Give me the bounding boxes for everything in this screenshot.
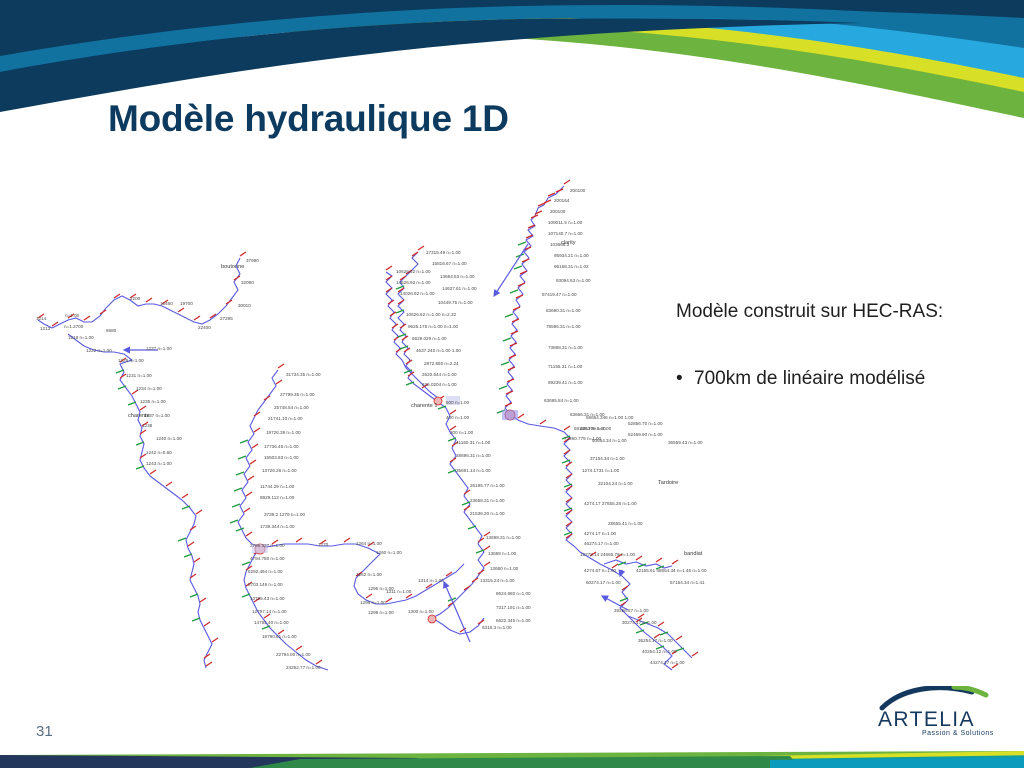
- map-cross-section-label: 52856.70 n=1.00: [628, 421, 663, 426]
- map-cross-section-label: 2872.850 n=2.24: [424, 361, 459, 366]
- map-cross-section-label: 36254.17 n=1.00: [638, 638, 673, 643]
- slide: Modèle hydraulique 1D: [0, 0, 1024, 768]
- map-cross-section-label: 63695.84 n=1.00: [544, 398, 579, 403]
- map-cross-section-label: 95934.21 n=1.00: [554, 253, 589, 258]
- map-cross-section-label: 109011.5 n=1.00: [548, 220, 583, 225]
- map-reach-label: Tardoire: [658, 480, 678, 486]
- map-cross-section-label: 1240 n=1.00: [156, 436, 182, 441]
- map-cross-section-label: 8624.680 n=1.00: [496, 591, 531, 596]
- map-cross-section-label: 400 n=1.00: [446, 415, 470, 420]
- map-cross-section-label: 4637.240 n=1.00 1.00: [416, 348, 461, 353]
- map-reach-labels: boutonnecharentecharente 1clarityTardoir…: [128, 240, 703, 557]
- map-cross-section-label: 1214: [36, 316, 47, 321]
- map-cross-section-label: 36559.43 n=1.00: [668, 440, 703, 445]
- map-cross-section-label: 96168.31 n=1.02: [554, 264, 589, 269]
- bullet-item: • 700km de linéaire modélisé: [676, 367, 1006, 391]
- map-cross-section-label: 46274.17 n=1.00: [584, 541, 619, 546]
- map-cross-section-label: 1243 n=1.00: [146, 461, 172, 466]
- map-cross-section-label: 300 n=1.00: [450, 430, 474, 435]
- map-cross-section-label: n=1.2700: [64, 324, 84, 329]
- map-flow-arrows: [124, 244, 628, 642]
- map-cross-section-label: 21741.10 n=1.00: [268, 416, 303, 421]
- map-cross-section-label: 1234 n=1.00: [136, 386, 162, 391]
- map-cross-section-label: 12278.14 24665.79 n=1.00: [580, 552, 635, 557]
- logo-tagline: Passion & Solutions: [922, 730, 994, 737]
- map-cross-section-label: 1227 n=1.00: [146, 346, 172, 351]
- footer-color-bar: [0, 749, 1024, 768]
- map-cross-section-label: 71155.31 n=1.00: [548, 364, 583, 369]
- map-cross-section-label: 6629.029 n=1.00: [412, 336, 447, 341]
- map-cross-section-label: 1260 n=1.00: [376, 550, 402, 555]
- map-cross-section-label: 42155.61 48654.34 n=1.46 n=1.00: [636, 568, 707, 573]
- page-number: 31: [36, 723, 53, 740]
- map-cross-section-label: 11744.29 n=1.00: [260, 484, 295, 489]
- map-cross-section-label: 1296 n=1.00: [360, 600, 386, 605]
- map-cross-section-label: 25748.54 n=1.00: [274, 405, 309, 410]
- map-cross-section-label: 78596.31 n=1.00: [546, 324, 581, 329]
- map-cross-section-label: 41160.31 n=1.00: [456, 440, 491, 445]
- map-cross-section-label: 13315.24 n=1.00: [480, 578, 515, 583]
- map-cross-section-label: 1222 n=1.00: [86, 348, 112, 353]
- map-cross-section-label: 1262 n=1.00: [356, 572, 382, 577]
- map-cross-section-label: 200100: [570, 188, 586, 193]
- map-cross-section-label: 1229 n=1.00: [118, 358, 144, 363]
- map-cross-section-label: 46274.17 n=1.00: [652, 671, 687, 672]
- map-cross-section-label: 6622.345 n=1.00: [496, 618, 531, 623]
- map-cross-section-label: 14026.92 n=1.00: [400, 291, 435, 296]
- map-cross-section-label: 27799.35 n=1.00: [280, 392, 315, 397]
- map-cross-section-label: 200100: [550, 209, 566, 214]
- map-cross-section-label: 35691.14 n=1.00: [456, 468, 491, 473]
- map-cross-section-label: 3739.2 1279 n=1.00: [264, 512, 305, 517]
- map-cross-section-label: 44274.17 n=1.00: [650, 660, 685, 665]
- map-cross-section-label: 1314 n=1.00: [418, 578, 444, 583]
- map-cross-section-label: 107140.7 n=1.00: [548, 231, 583, 236]
- map-cross-section-label: 500 n=1.00: [446, 400, 470, 405]
- map-cross-section-label: 72260.779 n=1.00: [564, 436, 602, 441]
- map-cross-section-label: 13726.26 n=1.00: [262, 468, 297, 473]
- map-cross-section-label: 1237 n=1.00: [144, 413, 170, 418]
- map-cross-section-label: 16460: [160, 301, 173, 306]
- map-cross-section-label: 4794.780 n=1.00: [250, 556, 285, 561]
- map-cross-section-label: 1213: [40, 326, 51, 331]
- map-cross-section-label: 32104.24 n=1.00: [598, 481, 633, 486]
- logo-wordmark: ARTELIA: [878, 708, 975, 731]
- map-cross-section-label: 626.0204 n=1.00: [422, 382, 457, 387]
- map-cross-section-label: 4274.17 27655.28 n=1.00: [584, 501, 637, 506]
- map-cross-section-label: 63666.31 n=1.00: [570, 412, 605, 417]
- artelia-logo: ARTELIA Passion & Solutions: [876, 686, 1008, 738]
- map-cross-section-label: 15816.67 n=1.00: [432, 261, 467, 266]
- map-cross-section-label: 1231 n=1.00: [126, 373, 152, 378]
- map-cross-section-label: 200164: [554, 198, 570, 203]
- logo-arc-icon: [882, 688, 972, 708]
- map-cross-section-label: 1299 n=1.00: [368, 610, 394, 615]
- map-cross-section-label: 8703.146 n=1.00: [248, 582, 283, 587]
- map-reach-label: bandiat: [684, 551, 703, 557]
- map-cross-section-label: 23658.31 n=1.00: [470, 498, 505, 503]
- map-cross-section-label: 13698.31 n=1.00: [486, 535, 521, 540]
- map-cross-section-label: 6292.494 n=1.00: [248, 569, 283, 574]
- bullet-label: 700km de linéaire modélisé: [694, 367, 925, 391]
- description-block: Modèle construit sur HEC-RAS: • 700km de…: [676, 300, 1006, 390]
- map-cross-section-label: 19726.39 n=1.00: [266, 430, 301, 435]
- map-cross-section-label: 1264 n=1.00: [356, 541, 382, 546]
- map-cross-section-label: 1235 n=1.00: [140, 399, 166, 404]
- map-cross-section-label: 69239.41 n=1.00: [548, 380, 583, 385]
- map-cross-section-label: 30010: [238, 303, 251, 308]
- map-cross-sections: [38, 180, 698, 668]
- map-cross-section-label: 13694.53 n=1.00: [440, 274, 475, 279]
- map-cross-section-label: 17315.49 n=1.00: [426, 250, 461, 255]
- map-cross-section-label: 6316.3 n=1.00: [482, 625, 512, 630]
- map-cross-section-label: 103668.3: [550, 242, 570, 247]
- map-cross-section-label: 5680: [106, 328, 117, 333]
- map-cross-section-label: 30274.17 n=1.00: [622, 620, 657, 625]
- map-reach-label: charente 1: [411, 403, 437, 409]
- map-cross-section-label: 52469.90 n=1.00: [628, 432, 663, 437]
- map-cross-section-label: 10626.62 n=1.00 n=2.32: [406, 312, 457, 317]
- map-cross-section-label: 22794.00 n=1.00: [276, 652, 311, 657]
- map-cross-section-label: n=1.00: [65, 313, 80, 318]
- bullet-marker-icon: •: [676, 367, 694, 391]
- map-cross-section-label: 4274.67 n=1.00: [584, 568, 617, 573]
- map-cross-section-label: 14626.92 n=1.00: [396, 280, 431, 285]
- map-cross-section-label: 40254.12 n=1.00: [642, 649, 677, 654]
- map-cross-section-label: 1311 n=1.00: [386, 589, 412, 594]
- map-cross-section-label: 57154.34 n=1.41: [670, 580, 705, 585]
- map-cross-section-label: 19700: [180, 301, 193, 306]
- map-cross-section-label: 14755.40 n=1.00: [254, 620, 289, 625]
- map-cross-section-label: 14637.61 n=1.00: [442, 286, 477, 291]
- map-cross-section-label: 10449.75 n=1.00: [438, 300, 473, 305]
- map-cross-section-label: 87419.47 n=1.00: [542, 292, 577, 297]
- map-cross-section-label: 60274.17 n=1.00: [586, 580, 621, 585]
- map-cross-section-label: 13688 n=1.00: [488, 551, 517, 556]
- description-lead: Modèle construit sur HEC-RAS:: [676, 300, 1006, 325]
- map-cross-section-label: 1270: [318, 542, 329, 547]
- map-cross-section-label: 28655.41 n=1.00: [608, 521, 643, 526]
- map-cross-section-label: 18790.61 n=1.00: [262, 634, 297, 639]
- page-title: Modèle hydraulique 1D: [108, 98, 509, 140]
- map-cross-section-label: 13660 n=1.00: [490, 566, 519, 571]
- map-cross-section-label: 17736.46 n=1.00: [264, 444, 299, 449]
- map-cross-section-label: 37154.34 n=1.00: [590, 456, 625, 461]
- map-cross-section-label: 26195.77 n=1.00: [470, 483, 505, 488]
- map-cross-section-label: 4274.17 n=1.00: [584, 531, 617, 536]
- map-cross-section-label: 1274.1731 n=1.00: [582, 468, 620, 473]
- map-cross-section-label: 22400: [198, 325, 211, 330]
- map-cross-section-label: 15503.63 n=1.00: [264, 455, 299, 460]
- map-cross-section-label: 7317.191 n=1.00: [496, 605, 531, 610]
- map-cross-section-label: 1300 n=1.00: [408, 609, 434, 614]
- map-cross-section-label: 1739.344 n=1.00: [260, 524, 295, 529]
- map-cross-section-label: 1242 n=0.60: [146, 450, 172, 455]
- map-cross-section-label: 37990: [246, 258, 259, 263]
- map-cross-section-label: 31734.35 n=1.00: [286, 372, 321, 377]
- map-cross-section-label: 4353 n=1.00: [580, 426, 606, 431]
- map-cross-section-label: 2200: [130, 296, 141, 301]
- map-cross-section-label: 21536.20 n=1.00: [470, 511, 505, 516]
- map-cross-section-label: 28256.57 n=1.00: [614, 608, 649, 613]
- map-cross-section-label: 10626.62 n=1.00: [396, 269, 431, 274]
- map-cross-section-label: 24252.77 n=1.00: [286, 665, 321, 670]
- map-cross-section-label: 12797.14 n=1.00: [252, 609, 287, 614]
- map-cross-section-label: 1219 n=1.00: [68, 335, 94, 340]
- map-cross-section-label: 27295: [220, 316, 233, 321]
- river-network-schematic: boutonnecharentecharente 1clarityTardoir…: [8, 172, 708, 672]
- map-cross-section-label: 73868.31 n=1.00: [548, 345, 583, 350]
- map-reach-label: boutonne: [221, 264, 244, 270]
- map-cross-section-label: 2620.644 n=1.00: [422, 372, 457, 377]
- map-cross-section-label: 2795.327 n=1.00: [250, 543, 285, 548]
- map-cross-section-label: 1238: [142, 423, 153, 428]
- map-cross-section-label: 8929.113 n=1.00: [260, 495, 295, 500]
- map-cross-section-label: 93094.53 n=1.00: [556, 278, 591, 283]
- map-cross-section-label: 38696.31 n=1.00: [456, 453, 491, 458]
- map-cross-section-label: 83690.31 n=1.00: [546, 308, 581, 313]
- map-cross-section-label: 32090: [241, 280, 254, 285]
- map-cross-section-label: 10795.43 n=1.00: [250, 596, 285, 601]
- map-cross-section-label: 9625.175 n=1.00 n=1.00: [408, 324, 459, 329]
